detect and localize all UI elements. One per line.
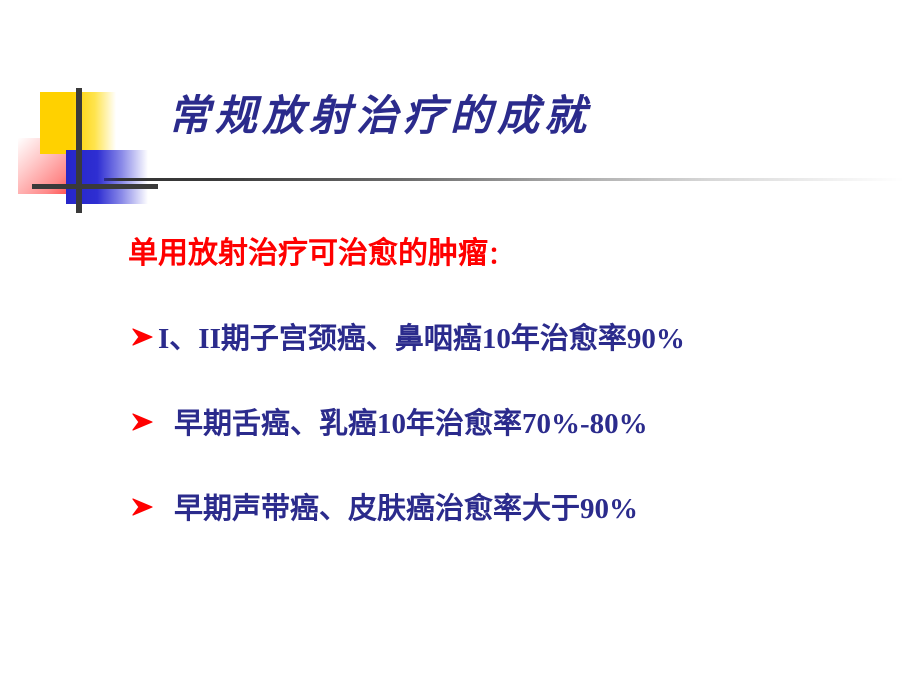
slide-body: 单用放射治疗可治愈的肿瘤： I、II期子宫颈癌、鼻咽癌10年治愈率90% 早期舌… — [0, 0, 920, 690]
list-item-label: I、II期子宫颈癌、鼻咽癌10年治愈率90% — [158, 315, 685, 357]
lead-statement: 单用放射治疗可治愈的肿瘤： — [128, 228, 512, 272]
list-item: 早期舌癌、乳癌10年治愈率70%-80% — [130, 400, 648, 442]
red-arrow-bullet-icon — [130, 324, 156, 350]
list-item-label: 早期舌癌、乳癌10年治愈率70%-80% — [174, 400, 648, 442]
red-arrow-bullet-icon — [130, 494, 156, 520]
lead-statement-text: 单用放射治疗可治愈的肿瘤 — [128, 237, 488, 270]
list-item: I、II期子宫颈癌、鼻咽癌10年治愈率90% — [130, 315, 685, 357]
list-item-label: 早期声带癌、皮肤癌治愈率大于90% — [174, 485, 638, 527]
lead-statement-colon: ： — [488, 243, 512, 269]
list-item: 早期声带癌、皮肤癌治愈率大于90% — [130, 485, 638, 527]
red-arrow-bullet-icon — [130, 409, 156, 435]
slide-canvas: 常规放射治疗的成就 单用放射治疗可治愈的肿瘤： I、II期子宫颈癌、鼻咽癌10年… — [0, 0, 920, 690]
